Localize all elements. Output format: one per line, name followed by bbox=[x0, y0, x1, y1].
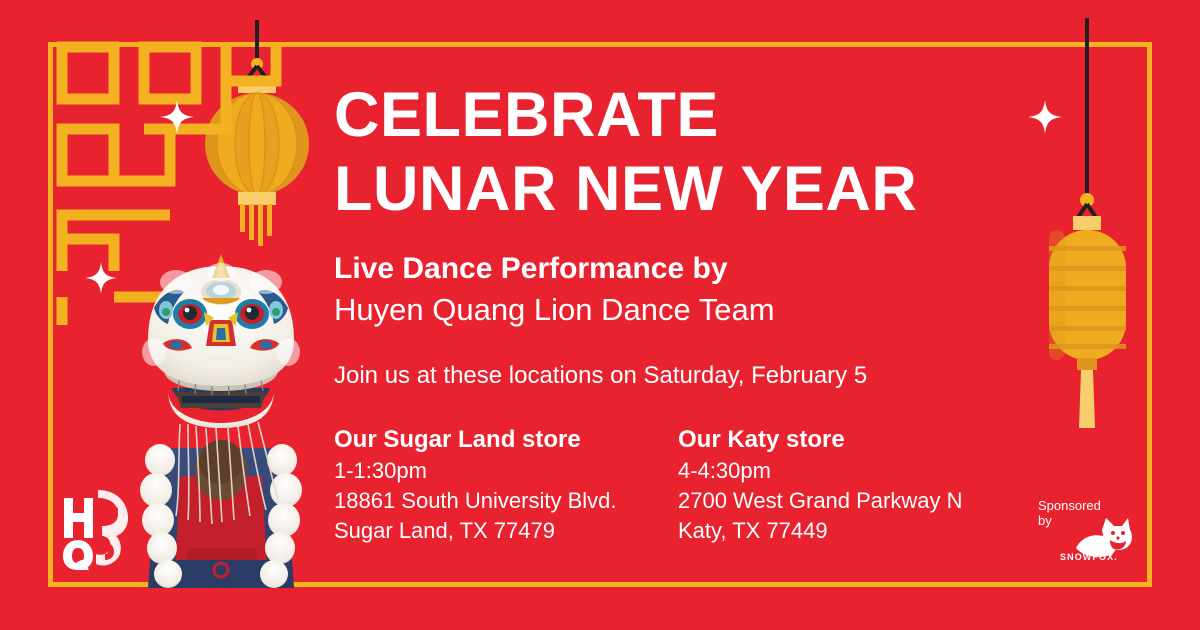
store-list: Our Sugar Land store 1-1:30pm 18861 Sout… bbox=[334, 424, 1054, 546]
poster-content: CELEBRATE LUNAR NEW YEAR Live Dance Perf… bbox=[334, 78, 1054, 546]
sponsor-block: Sponsored by SNOWFOX. bbox=[1038, 498, 1148, 528]
lion-dance-costume-photo bbox=[118, 248, 324, 588]
performance-team-name: Huyen Quang Lion Dance Team bbox=[334, 290, 1054, 330]
store-address-line-1: 2700 West Grand Parkway N bbox=[678, 486, 1022, 516]
hq-lion-monogram-logo bbox=[58, 484, 132, 570]
store-time: 1-1:30pm bbox=[334, 456, 678, 486]
store-sugar-land: Our Sugar Land store 1-1:30pm 18861 Sout… bbox=[334, 424, 678, 546]
store-name: Our Katy store bbox=[678, 424, 1022, 456]
headline-line-2: LUNAR NEW YEAR bbox=[334, 152, 1054, 226]
store-address-line-1: 18861 South University Blvd. bbox=[334, 486, 678, 516]
sparkle-left-mid-icon bbox=[85, 262, 117, 294]
sponsored-by-label-line-1: Sponsored bbox=[1038, 498, 1148, 513]
sponsor-brand-name: SNOWFOX. bbox=[1060, 552, 1118, 562]
headline-line-1: CELEBRATE bbox=[334, 78, 1054, 152]
sparkle-top-left-icon bbox=[160, 100, 194, 134]
store-time: 4-4:30pm bbox=[678, 456, 1022, 486]
store-address-line-2: Katy, TX 77449 bbox=[678, 516, 1022, 546]
page-title: CELEBRATE LUNAR NEW YEAR bbox=[334, 78, 1054, 226]
store-address-line-2: Sugar Land, TX 77479 bbox=[334, 516, 678, 546]
join-us-line: Join us at these locations on Saturday, … bbox=[334, 360, 1054, 392]
performance-subhead: Live Dance Performance by bbox=[334, 250, 1054, 288]
store-name: Our Sugar Land store bbox=[334, 424, 678, 456]
poster-canvas: CELEBRATE LUNAR NEW YEAR Live Dance Perf… bbox=[0, 0, 1200, 630]
store-katy: Our Katy store 4-4:30pm 2700 West Grand … bbox=[678, 424, 1022, 546]
